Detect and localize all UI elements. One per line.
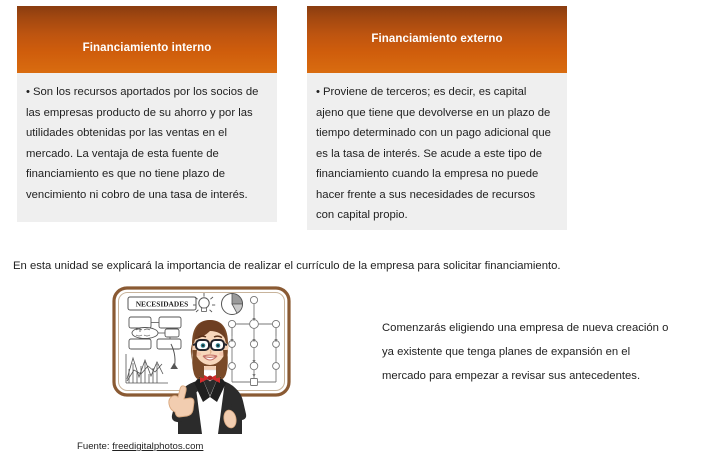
source-prefix: Fuente: — [77, 441, 110, 452]
card-title: Financiamiento interno — [83, 41, 212, 55]
source-link[interactable]: freedigitalphotos.com — [112, 441, 203, 452]
businesswoman-whiteboard-illustration: NECESIDADES — [108, 284, 308, 434]
card-body-text: Proviene de terceros; es decir, es capit… — [316, 86, 551, 221]
card-financiamiento-externo: Financiamiento externo •Proviene de terc… — [307, 6, 567, 230]
whiteboard-label: NECESIDADES — [136, 300, 189, 309]
card-header-financiamiento-interno: Financiamiento interno — [17, 6, 277, 73]
intro-paragraph: En esta unidad se explicará la importanc… — [13, 258, 673, 274]
slide-page: Financiamiento interno •Son los recursos… — [0, 0, 710, 462]
card-body-financiamiento-externo: •Proviene de terceros; es decir, es capi… — [307, 73, 567, 230]
right-paragraph: Comenzarás eligiendo una empresa de nuev… — [382, 316, 677, 388]
card-body-text: Son los recursos aportados por los socio… — [26, 86, 258, 201]
card-header-financiamiento-externo: Financiamiento externo — [307, 6, 567, 73]
bullet-marker: • — [26, 86, 30, 98]
card-body-financiamiento-interno: •Son los recursos aportados por los soci… — [17, 73, 277, 222]
card-title: Financiamiento externo — [371, 32, 502, 46]
whiteboard-pie-chart — [222, 294, 243, 315]
source-caption: Fuente: freedigitalphotos.com — [77, 440, 203, 453]
bullet-marker: • — [316, 86, 320, 98]
card-financiamiento-interno: Financiamiento interno •Son los recursos… — [17, 6, 277, 222]
